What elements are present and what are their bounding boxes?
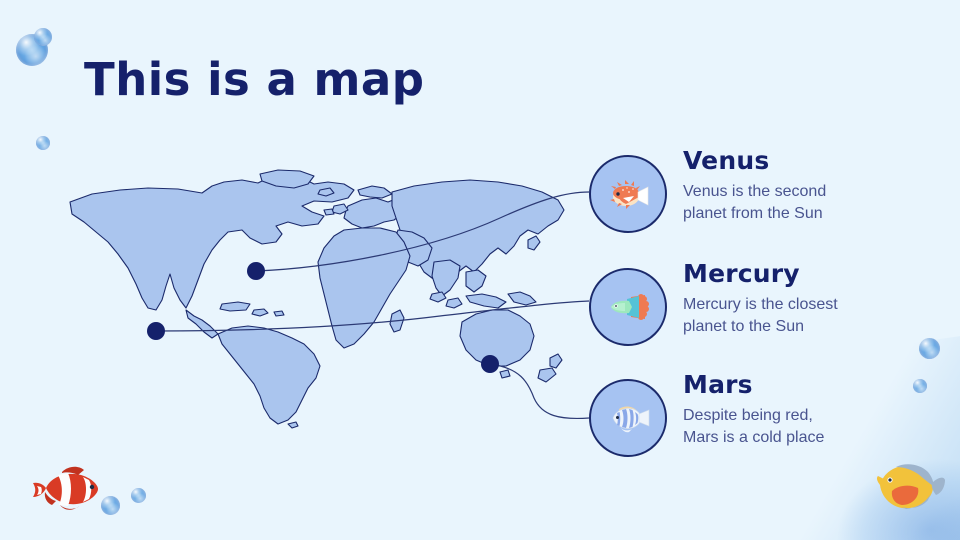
bubble-decoration — [34, 28, 52, 46]
pufferfish-icon — [605, 177, 651, 211]
map-landmass-indonesia — [466, 294, 506, 308]
bubble-decoration — [36, 136, 50, 150]
striped-angelfish-icon — [605, 401, 651, 435]
map-landmass-central-america — [186, 310, 218, 338]
page-title: This is a map — [84, 53, 424, 106]
item-text-venus: Venus Venus is the second planet from th… — [683, 148, 933, 224]
bubble-decoration — [131, 488, 146, 503]
map-landmass-tasmania — [500, 370, 510, 378]
map-landmass-hispaniola — [252, 309, 268, 316]
item-text-mars: Mars Despite being red, Mars is a cold p… — [683, 372, 933, 448]
map-landmass-japan — [528, 236, 540, 250]
map-landmass-puerto-rico — [274, 311, 284, 316]
map-landmass-south-america — [218, 326, 320, 424]
item-circle-mercury[interactable] — [589, 268, 667, 346]
map-landmass-sumatra — [430, 292, 446, 302]
map-landmass-australia — [460, 310, 534, 366]
map-landmass-ireland — [324, 209, 334, 215]
item-description-mercury: Mercury is the closest planet to the Sun — [683, 294, 933, 337]
map-landmass-new-zealand-south — [538, 368, 556, 382]
map-landmass-asia — [392, 180, 564, 284]
item-description-mars: Despite being red, Mars is a cold place — [683, 405, 933, 448]
item-circle-venus[interactable] — [589, 155, 667, 233]
map-landmass-madagascar — [390, 310, 404, 332]
item-circle-mars[interactable] — [589, 379, 667, 457]
bubble-decoration — [919, 338, 940, 359]
item-title-mars: Mars — [683, 372, 933, 398]
slide-canvas: This is a map — [0, 0, 960, 540]
clownfish-decoration — [28, 462, 104, 514]
fan-tail-fish-icon — [605, 293, 651, 321]
map-landmass-cuba — [220, 302, 250, 311]
map-landmass-scandinavia — [358, 186, 392, 198]
yellow-fish-decoration — [862, 455, 946, 517]
bubble-decoration — [913, 379, 927, 393]
map-landmass-new-guinea — [508, 292, 536, 305]
map-landmass-north-america — [70, 176, 354, 310]
item-title-mercury: Mercury — [683, 261, 933, 287]
map-landmass-borneo — [446, 298, 462, 308]
map-landmass-new-zealand-north — [550, 354, 562, 368]
map-landmass-india — [432, 260, 460, 296]
map-landmass-indochina — [466, 270, 486, 292]
world-map — [62, 168, 572, 438]
map-landmass-falklands — [288, 422, 298, 428]
item-text-mercury: Mercury Mercury is the closest planet to… — [683, 261, 933, 337]
item-description-venus: Venus is the second planet from the Sun — [683, 181, 933, 224]
item-title-venus: Venus — [683, 148, 933, 174]
